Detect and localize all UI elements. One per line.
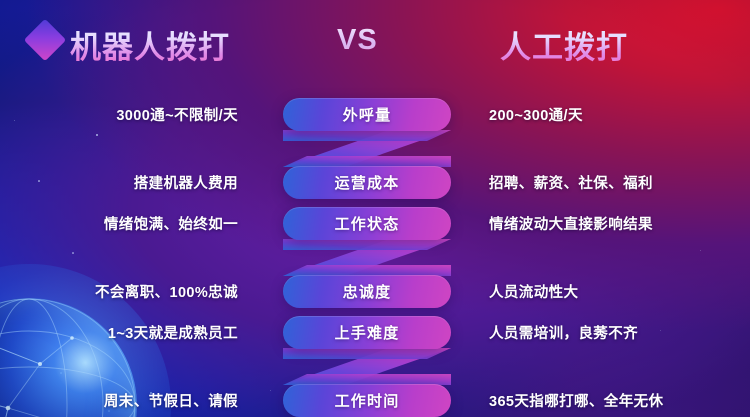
comparison-row: 搭建机器人费用运营成本招聘、薪资、社保、福利 <box>0 162 750 202</box>
human-side-value: 365天指哪打哪、全年无休 <box>489 380 663 417</box>
category-pill-label: 运营成本 <box>335 172 400 193</box>
human-side-value: 200~300通/天 <box>489 94 583 134</box>
page-title-right: 人工拨打 <box>500 22 628 67</box>
category-pill-label: 外呼量 <box>343 104 392 125</box>
human-side-value: 人员流动性大 <box>489 271 578 311</box>
category-pill-label: 工作状态 <box>335 213 400 234</box>
robot-side-value: 1~3天就是成熟员工 <box>108 312 238 352</box>
comparison-row: 周末、节假日、请假工作时间365天指哪打哪、全年无休 <box>0 380 750 417</box>
robot-side-value: 周末、节假日、请假 <box>104 380 238 417</box>
comparison-row: 不会离职、100%忠诚忠诚度人员流动性大 <box>0 271 750 311</box>
category-pill[interactable]: 忠诚度 <box>283 275 451 308</box>
diamond-icon <box>24 19 66 61</box>
header: 机器人拨打 VS 人工拨打 <box>0 0 750 72</box>
comparison-row: 1~3天就是成熟员工上手难度人员需培训，良莠不齐 <box>0 312 750 352</box>
category-pill[interactable]: 运营成本 <box>283 166 451 199</box>
robot-side-value: 3000通~不限制/天 <box>116 94 238 134</box>
vs-label: VS <box>337 24 378 57</box>
human-side-value: 情绪波动大直接影响结果 <box>489 203 653 243</box>
category-pill-label: 忠诚度 <box>343 281 392 302</box>
infographic-canvas: 机器人拨打 VS 人工拨打 3000通~不限制/天外呼量200~300通/天搭建… <box>0 0 750 417</box>
page-title-left: 机器人拨打 <box>70 22 230 67</box>
robot-side-value: 情绪饱满、始终如一 <box>104 203 238 243</box>
robot-side-value: 不会离职、100%忠诚 <box>95 271 238 311</box>
comparison-row: 3000通~不限制/天外呼量200~300通/天 <box>0 94 750 134</box>
category-pill-label: 工作时间 <box>335 390 400 411</box>
comparison-row: 情绪饱满、始终如一工作状态情绪波动大直接影响结果 <box>0 203 750 243</box>
robot-side-value: 搭建机器人费用 <box>134 162 238 202</box>
human-side-value: 招聘、薪资、社保、福利 <box>489 162 653 202</box>
category-pill[interactable]: 工作时间 <box>283 384 451 417</box>
category-pill[interactable]: 上手难度 <box>283 316 451 349</box>
human-side-value: 人员需培训，良莠不齐 <box>489 312 638 352</box>
category-pill-label: 上手难度 <box>335 322 400 343</box>
category-pill[interactable]: 工作状态 <box>283 207 451 240</box>
category-pill[interactable]: 外呼量 <box>283 98 451 131</box>
